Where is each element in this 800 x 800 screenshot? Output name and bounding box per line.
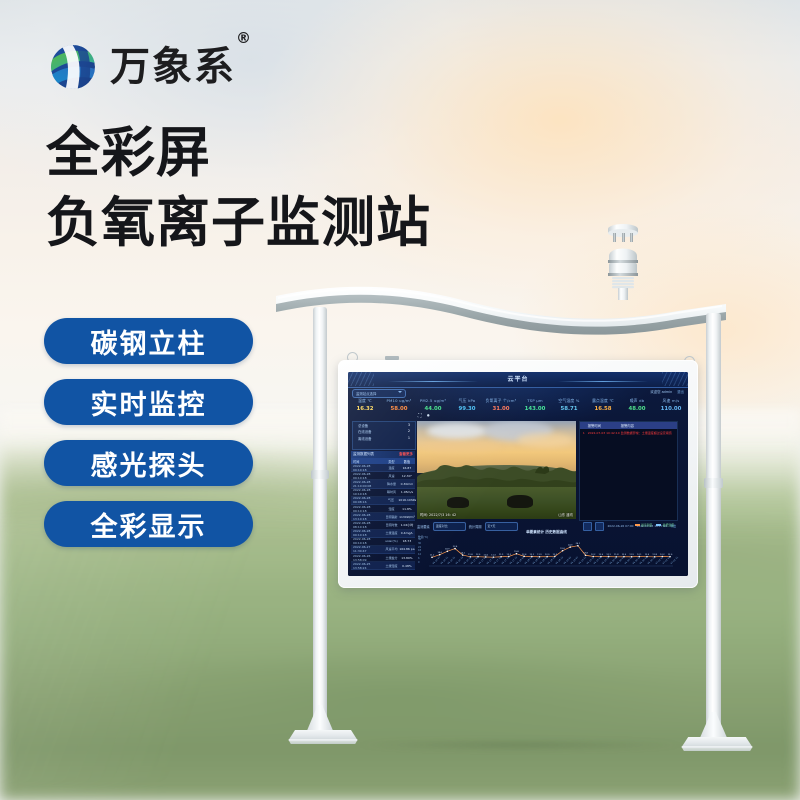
chart-point-label: 13.8: [583, 553, 588, 555]
cell-type: 降水量: [384, 482, 399, 486]
account-name: 欢迎您 admin: [650, 390, 672, 394]
cell-type: 日照辐射: [384, 515, 399, 519]
metric-item-6: 空气湿度 % 58.71: [552, 399, 586, 419]
dashboard-title: 云平台: [348, 374, 688, 383]
cell-value: 0.4mg/L: [399, 531, 415, 535]
metric-item-0: 温度 ℃ 16.32: [348, 399, 382, 419]
record-icon[interactable]: ⏺: [427, 413, 430, 419]
cell-value: 0.48%: [399, 564, 415, 568]
history-line-chart: 单要素统计 历史数据曲线 数值(℃) 最高温度 最低温度 36302418126…: [417, 530, 676, 574]
metric-label: 露点温度 ℃: [586, 399, 620, 403]
cell-time: 2022-06-28 09:10:18: [351, 472, 384, 480]
chart-point-label: 15.8: [514, 551, 519, 553]
metric-value: 44.00: [416, 407, 450, 412]
metric-value: 99.30: [450, 407, 484, 412]
control-label-period: 统计周期: [469, 524, 482, 529]
period-select-value: 近7天: [488, 524, 496, 528]
stat-label: 在线设备: [358, 429, 372, 434]
metric-label: PM2.5 ug/m³: [416, 399, 450, 403]
cell-time: 2022-06-28 09:10:18: [351, 505, 384, 513]
metric-label: 温度 ℃: [348, 399, 382, 403]
table-body: 2022-06-28 09:10:18温度16.872022-06-28 09:…: [351, 464, 415, 570]
cell-value: 164.86 pa: [399, 547, 415, 551]
stat-value: 2: [408, 429, 410, 434]
video-cow: [447, 497, 469, 508]
cell-type: 风速: [384, 474, 399, 478]
metric-item-3: 气压 kPa 99.30: [450, 399, 484, 419]
carbon-steel-post-right: [706, 313, 721, 738]
control-label-element: 监测要素: [417, 524, 430, 529]
column-header-value: 数值: [399, 459, 415, 464]
video-cloud: [421, 441, 501, 453]
cell-value: 13.89%: [399, 556, 415, 560]
ultrasonic-weather-sensor-icon: [600, 222, 646, 300]
cell-value: 16.87: [399, 466, 415, 470]
table-caption: 监测数据列表 查看更多: [351, 451, 415, 458]
video-timestamp: 时间: 2022/7/3 16: 42: [420, 512, 456, 517]
table-title: 监测数据列表: [353, 452, 374, 457]
chart-point-label: 19.6: [560, 548, 565, 550]
screen-panel: 云平台 监测站点选择 欢迎您 admin退出 温度 ℃ 16.32: [348, 372, 688, 576]
cell-time: 2022-06-28 09:08:16: [351, 496, 384, 504]
station-selector-dropdown[interactable]: 监测站点选择: [352, 389, 406, 398]
chart-point-label: 14.1: [460, 552, 465, 554]
y-tick: 12: [418, 553, 421, 556]
video-cloud: [517, 433, 573, 447]
cell-type: 气压: [384, 498, 399, 502]
logout-link[interactable]: 退出: [677, 390, 684, 394]
alarm-time: 2022-07-03 10:42:10: [588, 431, 621, 435]
chart-x-axis: 06-26 0706-26 1106-26 1506-26 1906-26 23…: [429, 563, 673, 573]
metric-label: TSP μm: [518, 399, 552, 403]
cloud-platform-dashboard: 云平台 监测站点选择 欢迎您 admin退出 温度 ℃ 16.32: [348, 372, 688, 576]
cell-type: 日照时数: [384, 523, 399, 527]
cell-time: 2022-06-28 10:10:18: [351, 488, 384, 496]
post-collar-left: [311, 470, 329, 479]
chart-data-point: [562, 550, 564, 552]
metric-item-9: 风速 m/s 110.00: [654, 399, 688, 419]
cell-value: 12.30°: [399, 474, 415, 478]
cell-time: 2022-06-28 13:10:18: [351, 513, 384, 521]
station-selector-value: 监测站点选择: [356, 391, 376, 396]
cell-time: 2022-06-28 09:10:18: [351, 537, 384, 545]
alarm-index: 1: [580, 431, 588, 435]
metric-item-1: PM10 ug/m³ 58.00: [382, 399, 416, 419]
metric-value: 16.32: [348, 407, 382, 412]
alarm-row: 1 2022-07-03 10:42:10 监测数据异常：土壤温度超过设定阈值: [580, 429, 677, 436]
cell-type: 瞬时风: [384, 490, 399, 494]
alarm-header-row: 报警时间 报警内容: [580, 422, 677, 429]
y-tick: 24: [418, 546, 421, 549]
chart-data-point: [454, 548, 456, 550]
cell-time: 2022-06-26 13:58:09: [351, 554, 384, 562]
chart-data-point: [516, 553, 518, 555]
cell-type: 土壤温度: [384, 531, 399, 535]
legend-item-0: 最高温度: [635, 523, 653, 527]
cell-type: 温度: [384, 466, 399, 470]
metric-value: 16.58: [586, 407, 620, 412]
cell-value: 0.30mm: [399, 482, 415, 486]
chart-data-point: [447, 551, 449, 553]
snapshot-icon[interactable]: ⛶: [418, 413, 422, 419]
curved-canopy: [272, 282, 730, 340]
cell-type: 土壤湿度: [384, 564, 399, 568]
chart-point-label: 22.4: [453, 546, 458, 548]
cell-value: 11.8%: [399, 507, 415, 511]
chart-point-label: 11.2: [430, 555, 435, 557]
chart-point-label: 14.6: [437, 552, 442, 554]
metric-item-7: 露点温度 ℃ 16.58: [586, 399, 620, 419]
view-more-link[interactable]: 查看更多: [399, 452, 413, 457]
display-screen: 云平台 监测站点选择 欢迎您 admin退出 温度 ℃ 16.32: [338, 360, 698, 588]
metric-value: 31.00: [484, 407, 518, 412]
live-video-feed[interactable]: 时间: 2022/7/3 16: 42 山东 潍坊: [417, 421, 576, 519]
metric-label: 风速 m/s: [654, 399, 688, 403]
metric-item-4: 负氧离子 个/cm³ 31.00: [484, 399, 518, 419]
stat-label: 离线设备: [358, 436, 372, 441]
date-from[interactable]: 2022-06-26 07:00: [607, 524, 633, 528]
metric-label: 负氧离子 个/cm³: [484, 399, 518, 403]
legend-item-1: 最低温度: [656, 523, 674, 527]
metric-label: 空气湿度 %: [552, 399, 586, 403]
metric-value: 110.00: [654, 407, 688, 412]
chart-title: 单要素统计 历史数据曲线: [417, 530, 676, 535]
stat-label: 总设备: [358, 423, 368, 428]
metric-item-8: 噪声 db 48.00: [620, 399, 654, 419]
device-stats-panel: 总设备 3 在线设备 2 离线设备 1: [352, 421, 416, 450]
cell-value: 1.05m/s: [399, 490, 415, 494]
element-select-value: 温度对比: [436, 524, 448, 528]
chart-point-label: 18.9: [445, 549, 450, 551]
monitoring-data-table: 监测数据列表 查看更多 时间 类型 数值 2022-06-28 09:10:18…: [351, 451, 415, 563]
metric-value: 48.00: [620, 407, 654, 412]
chart-legend: 最高温度 最低温度: [635, 523, 674, 527]
alarm-col-time: 报警时间: [588, 423, 621, 428]
stat-value: 3: [408, 423, 410, 428]
chart-point-label: 24.3: [568, 545, 573, 547]
cell-time: 2022-06-28 21:10:00:08: [351, 480, 384, 488]
chevron-down-icon: [398, 391, 402, 393]
cell-value: 1130W/m²: [399, 515, 415, 519]
video-cloud: [427, 423, 487, 439]
chart-data-point: [431, 556, 433, 558]
cell-value: 1.04小时: [399, 523, 415, 527]
video-location: 山东 潍坊: [558, 512, 573, 517]
alarm-col-text: 报警内容: [621, 423, 677, 428]
metric-strip: 温度 ℃ 16.32 PM10 ug/m³ 58.00 PM2.5 ug/m³ …: [348, 399, 688, 419]
chart-point-label: 26.1: [576, 543, 581, 545]
cell-time: 2022-06-27 11:30:47: [351, 545, 384, 553]
stat-value: 1: [408, 436, 410, 441]
cell-value: 1016.10hPa: [398, 498, 415, 502]
cell-time: 2022-06-28 08:10:18: [351, 521, 384, 529]
monitoring-station: 云平台 监测站点选择 欢迎您 admin退出 温度 ℃ 16.32: [0, 0, 800, 800]
column-header-type: 类型: [384, 459, 399, 464]
metric-label: PM10 ug/m³: [382, 399, 416, 403]
cell-type: 湿度: [384, 507, 399, 511]
cell-time: 2022-06-28 09:10:18: [351, 464, 384, 472]
video-cow: [507, 495, 533, 508]
metric-value: 58.71: [552, 407, 586, 412]
account-area: 欢迎您 admin退出: [650, 389, 684, 394]
carbon-steel-post-left: [313, 307, 327, 732]
cell-time: 2022-06-28 09:10:18: [351, 529, 384, 537]
chart-data-point: [569, 546, 571, 548]
metric-value: 143.00: [518, 407, 552, 412]
metric-label: 噪声 db: [620, 399, 654, 403]
y-tick: 30: [418, 542, 421, 545]
ground-shadow: [300, 738, 740, 752]
cell-time: 2022-06-25 13:58:24: [351, 562, 384, 570]
y-tick: 6: [418, 557, 421, 560]
product-banner: 万象系® 全彩屏 负氧离子监测站 碳钢立柱 实时监控 感光探头 全彩显示: [0, 0, 800, 800]
y-tick: 18: [418, 549, 421, 552]
chart-y-axis: 363024181260: [418, 538, 421, 564]
table-row[interactable]: 2022-06-25 13:58:24土壤湿度0.48%: [351, 562, 415, 570]
cell-type: 风速平均: [384, 547, 399, 551]
alarm-panel: 报警时间 报警内容 1 2022-07-03 10:42:10 监测数据异常：土…: [579, 421, 678, 521]
metric-label: 气压 kPa: [450, 399, 484, 403]
metric-value: 58.00: [382, 407, 416, 412]
chart-data-point: [577, 545, 579, 547]
y-tick: 36: [418, 538, 421, 541]
cell-type: solar(%): [384, 539, 399, 543]
cell-type: 土壤盐分: [384, 556, 399, 560]
alarm-text: 监测数据异常：土壤温度超过设定阈值: [621, 431, 677, 435]
metric-item-5: TSP μm 143.00: [518, 399, 552, 419]
post-collar-right: [704, 478, 723, 488]
stat-row: 离线设备 1: [353, 434, 415, 440]
cell-value: 18.73: [399, 539, 415, 543]
y-tick: 0: [418, 561, 421, 564]
